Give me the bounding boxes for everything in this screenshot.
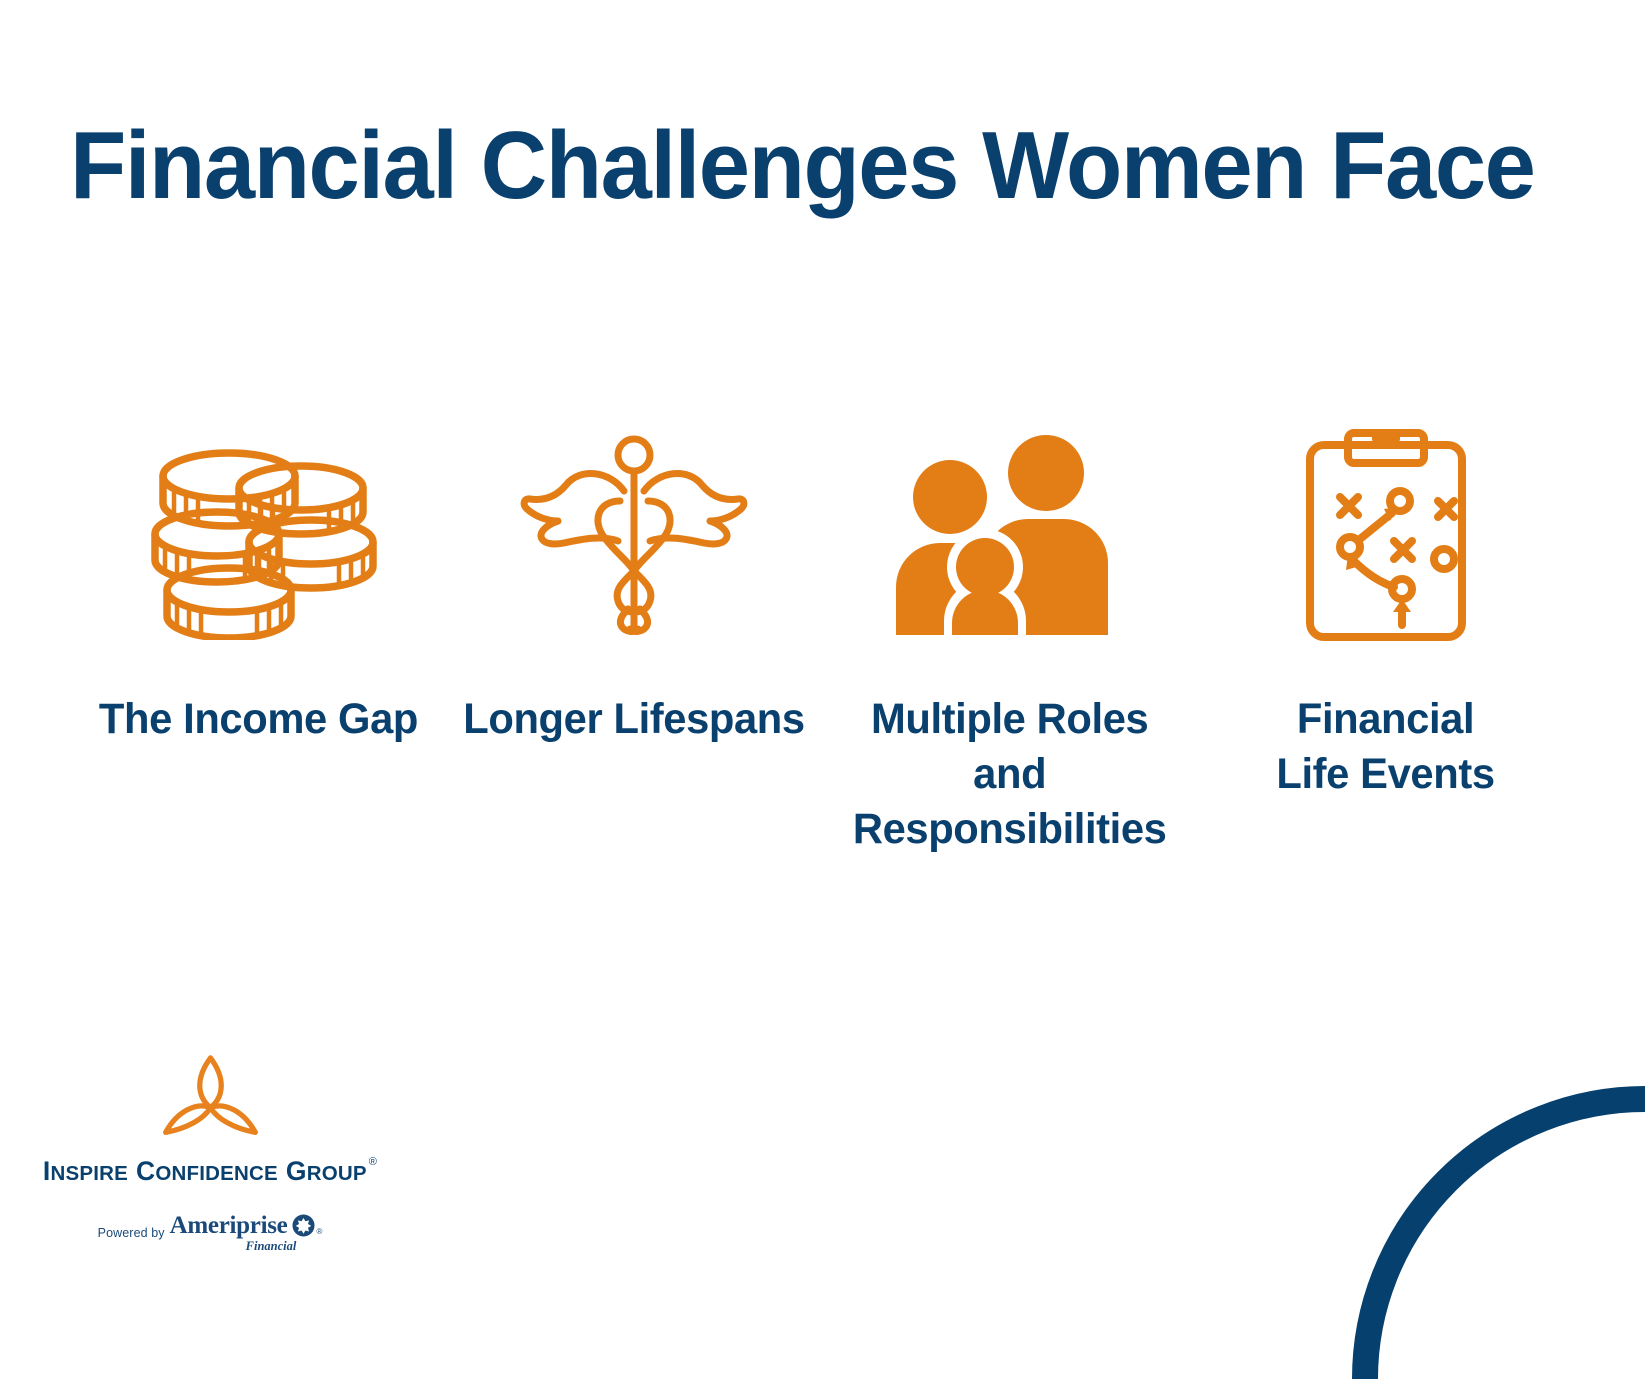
challenge-card-label: Longer Lifespans: [463, 692, 804, 747]
family-group-icon: [822, 420, 1198, 650]
brand-word-inspire: Inspire: [43, 1156, 128, 1187]
challenge-card-label: Financial Life Events: [1277, 692, 1495, 802]
brand-logo-block: Inspire Confidence Group ® Powered by Am…: [55, 1052, 365, 1254]
challenge-card-label: Multiple Roles and Responsibilities: [853, 692, 1167, 857]
infographic-canvas: Financial Challenges Women Face: [0, 0, 1645, 1379]
ameriprise-lockup: Ameriprise ® Financial: [170, 1213, 323, 1254]
challenge-card-financial-life-events: Financial Life Events: [1198, 420, 1574, 802]
ameriprise-name: Ameriprise: [170, 1213, 288, 1238]
coin-stack-icon: [70, 420, 446, 650]
caduceus-icon: [446, 420, 822, 650]
challenge-card-longer-lifespans: Longer Lifespans: [446, 420, 822, 747]
brand-name: Inspire Confidence Group ®: [43, 1156, 377, 1187]
ameriprise-registered-symbol: ®: [316, 1227, 322, 1236]
page-title: Financial Challenges Women Face: [70, 118, 1510, 214]
challenge-card-label: The Income Gap: [98, 692, 417, 747]
trefoil-icon: [158, 1052, 263, 1144]
brand-word-confidence: Confidence: [136, 1156, 278, 1187]
challenge-card-multiple-roles: Multiple Roles and Responsibilities: [822, 420, 1198, 857]
brand-word-group: Group: [286, 1156, 367, 1187]
ameriprise-star-icon: [292, 1214, 315, 1237]
powered-by-ameriprise: Powered by Ameriprise ® Financial: [98, 1213, 323, 1254]
powered-by-label: Powered by: [98, 1226, 165, 1240]
challenge-card-row: The Income Gap: [70, 420, 1575, 857]
registered-trademark-symbol: ®: [369, 1157, 377, 1168]
clipboard-strategy-icon: [1198, 420, 1574, 650]
navy-quarter-arc-decoration: [1275, 1024, 1645, 1379]
ameriprise-subtitle: Financial: [246, 1239, 297, 1254]
challenge-card-income-gap: The Income Gap: [70, 420, 446, 747]
